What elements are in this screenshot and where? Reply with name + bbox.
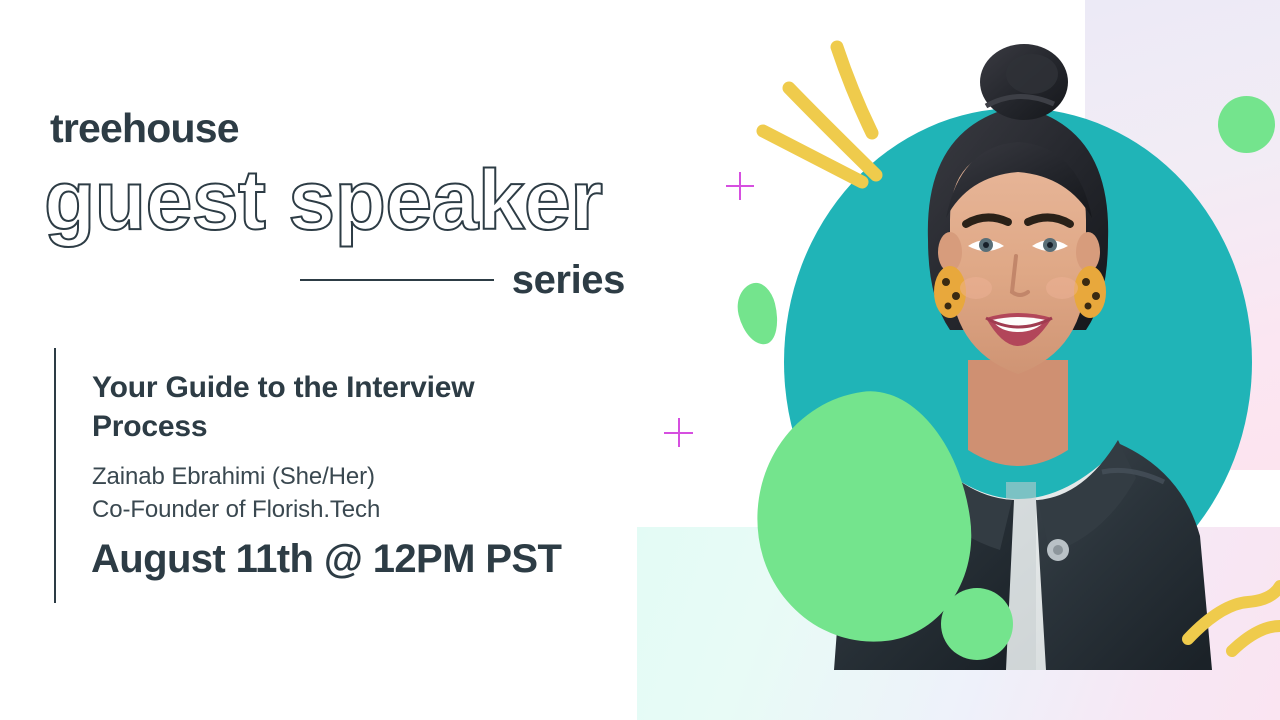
headline-outline: guest speaker xyxy=(44,158,602,242)
vertical-divider-rule xyxy=(54,348,56,603)
speaker-name: Zainab Ebrahimi (She/Her) xyxy=(92,461,375,493)
event-datetime: August 11th @ 12PM PST xyxy=(91,536,561,582)
plus-mark-icon xyxy=(726,172,754,200)
guest-speaker-promo-slide: treehouse guest speaker series Your Guid… xyxy=(0,0,1280,720)
talk-title: Your Guide to the Interview Process xyxy=(92,368,512,446)
speaker-role: Co-Founder of Florish.Tech xyxy=(92,494,380,526)
series-label: series xyxy=(512,260,625,300)
plus-mark-icon xyxy=(664,418,693,447)
green-bean-shape xyxy=(732,279,784,348)
brand-wordmark: treehouse xyxy=(50,108,239,149)
series-divider-rule xyxy=(300,279,494,281)
green-circle-bottom xyxy=(941,588,1013,660)
series-row: series xyxy=(300,256,625,304)
